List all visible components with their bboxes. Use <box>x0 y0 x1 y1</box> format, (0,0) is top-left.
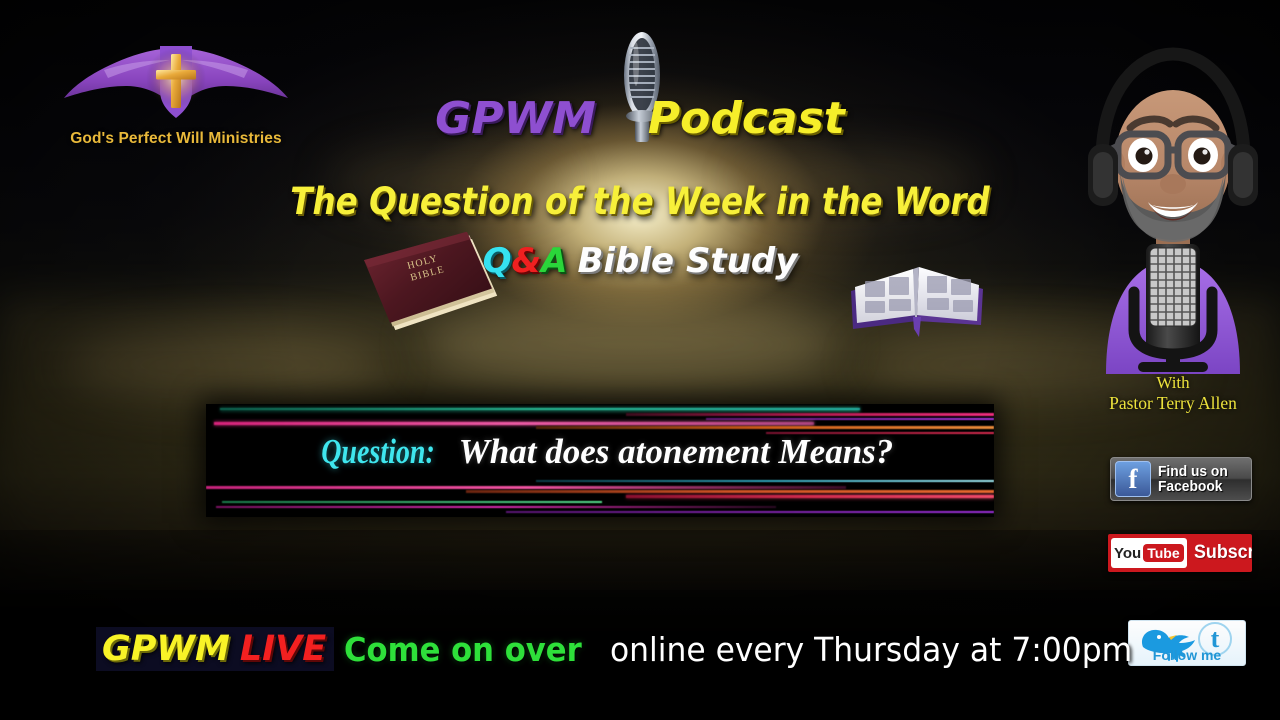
question-label: Question: <box>321 432 435 472</box>
qa-a-letter: A <box>541 241 567 281</box>
host-name: Pastor Terry Allen <box>1068 393 1278 415</box>
youtube-logo-icon: You Tube <box>1111 538 1187 568</box>
youtube-tube-text: Tube <box>1143 544 1183 562</box>
question-text: Question:What does atonement Means? <box>206 432 994 472</box>
closed-holy-bible-icon: HOLY BIBLE <box>355 232 507 342</box>
bottom-schedule-text: online every Thursday at 7:00pm <box>610 630 1132 669</box>
facebook-badge-line1: Find us on <box>1158 464 1228 479</box>
subtitle-line: The Question of the Week in the Word <box>77 180 1203 223</box>
open-bible-icon <box>843 243 991 339</box>
youtube-subscribe-label: Subscribe <box>1194 542 1252 564</box>
bottom-info-bar: GPWM LIVE Come on over online every Thur… <box>96 626 1159 672</box>
host-caption-with: With <box>1068 372 1278 393</box>
qa-ampersand: & <box>512 241 542 281</box>
question-banner: Question:What does atonement Means? <box>206 404 994 517</box>
title-podcast: Podcast <box>648 93 845 144</box>
youtube-you-text: You <box>1114 545 1141 562</box>
facebook-badge[interactable]: f Find us on Facebook <box>1110 457 1252 501</box>
facebook-f-icon: f <box>1115 461 1151 497</box>
facebook-badge-line2: Facebook <box>1158 479 1228 494</box>
pastor-memoji-avatar-icon <box>1078 24 1268 374</box>
bottom-live-label: LIVE <box>236 627 334 671</box>
bottom-gpwm-label: GPWM <box>96 627 236 671</box>
bible-study-label: Bible Study <box>577 241 797 281</box>
youtube-subscribe-badge[interactable]: You Tube Subscribe <box>1108 534 1252 572</box>
question-body: What does atonement Means? <box>459 432 894 471</box>
title-brand: GPWM <box>435 93 596 144</box>
podcast-title-card: God's Perfect Will Ministries <box>0 0 1280 720</box>
host-caption: With Pastor Terry Allen <box>1068 372 1278 415</box>
facebook-badge-text: Find us on Facebook <box>1158 464 1228 495</box>
bottom-invite-text: Come on over <box>344 630 582 669</box>
